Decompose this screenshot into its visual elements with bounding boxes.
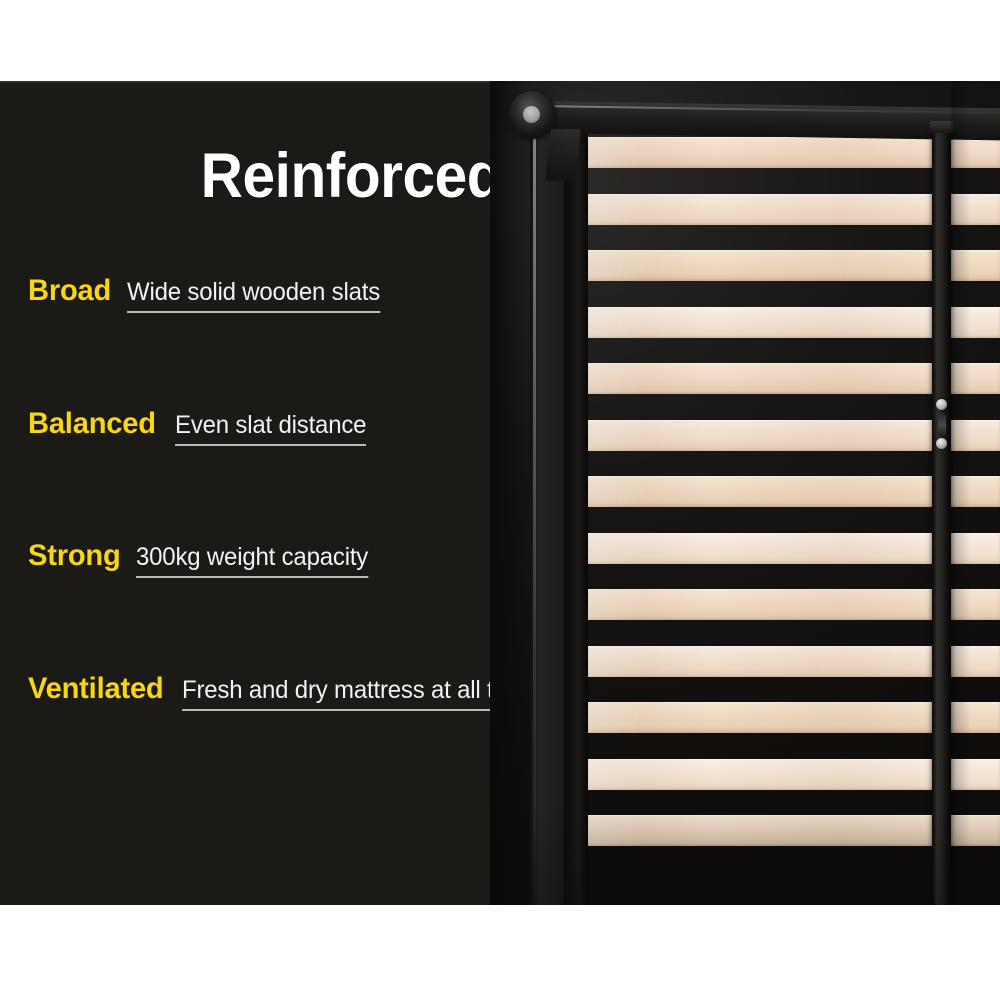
feature-description: Wide solid wooden slats [127, 280, 380, 313]
feature-item-balanced: Balanced Even slat distance [28, 409, 374, 446]
feature-keyword: Balanced [28, 409, 156, 439]
feature-keyword: Strong [28, 541, 121, 571]
feature-item-strong: Strong 300kg weight capacity [28, 541, 378, 578]
left-side-rail-highlight [533, 115, 536, 905]
feature-item-ventilated: Ventilated Fresh and dry mattress at all… [28, 674, 558, 711]
feature-description: 300kg weight capacity [136, 545, 368, 578]
dark-panel: Reinforced thick slats Broad Wide solid … [0, 81, 1000, 905]
product-feature-banner: Reinforced thick slats Broad Wide solid … [0, 0, 1000, 1000]
screw-icon [936, 399, 947, 410]
corner-bracket [545, 129, 580, 181]
center-support-bar [932, 125, 951, 905]
feature-description: Even slat distance [175, 413, 366, 446]
bed-frame-photo [490, 81, 1000, 905]
center-support-bar-cap [930, 121, 953, 133]
feature-keyword: Broad [28, 276, 111, 306]
feature-description: Fresh and dry mattress at all times [182, 678, 543, 711]
feature-item-broad: Broad Wide solid wooden slats [28, 276, 390, 313]
feature-keyword: Ventilated [28, 674, 164, 704]
corner-bolt-center [523, 106, 540, 123]
left-side-rail-inner [564, 127, 588, 905]
screw-icon [936, 438, 947, 449]
center-bar-link [938, 414, 946, 436]
